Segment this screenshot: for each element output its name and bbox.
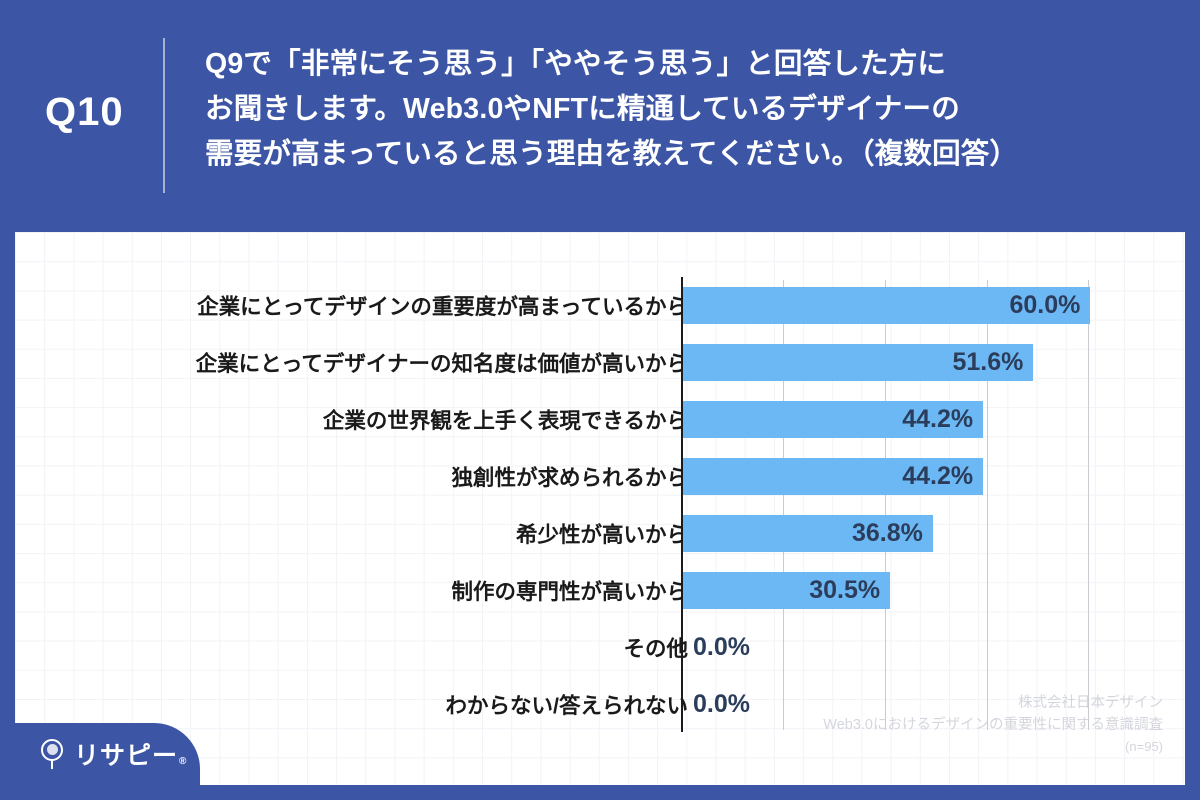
category-label: 制作の専門性が高いから	[451, 562, 688, 619]
brand-logo[interactable]: リサピー®	[15, 723, 200, 785]
question-text: Q9で「非常にそう思う」「ややそう思う」と回答した方に お聞きします。Web3.…	[205, 42, 1180, 177]
question-line-1: Q9で「非常にそう思う」「ややそう思う」と回答した方に	[205, 42, 1180, 87]
chart-row: 独創性が求められるから44.2%	[15, 448, 1185, 505]
chart-row: その他0.0%	[15, 619, 1185, 676]
question-number: Q10	[45, 92, 165, 132]
registered-mark: ®	[179, 756, 187, 767]
chart-row: 制作の専門性が高いから30.5%	[15, 562, 1185, 619]
chart-row: 企業の世界観を上手く表現できるから44.2%	[15, 391, 1185, 448]
question-line-2: お聞きします。Web3.0やNFTに精通しているデザイナーの	[205, 87, 1180, 132]
chart-row: 希少性が高いから36.8%	[15, 505, 1185, 562]
bar-value-label: 0.0%	[693, 619, 833, 676]
credit-company: 株式会社日本デザイン	[823, 692, 1163, 714]
logo-text: リサピー®	[74, 736, 187, 772]
category-label: 企業にとってデザインの重要度が高まっているから	[197, 277, 688, 334]
chart-row: 企業にとってデザイナーの知名度は価値が高いから51.6%	[15, 334, 1185, 391]
magnifier-icon	[41, 739, 67, 769]
question-line-3: 需要が高まっていると思う理由を教えてください。（複数回答）	[205, 132, 1180, 177]
bar-value-label: 36.8%	[681, 505, 923, 562]
bar-value-label: 0.0%	[693, 676, 833, 733]
credits: 株式会社日本デザイン Web3.0におけるデザインの重要性に関する意識調査 (n…	[823, 692, 1163, 757]
category-label: その他	[623, 619, 688, 676]
category-label: 企業にとってデザイナーの知名度は価値が高いから	[196, 334, 688, 391]
slide-header: Q10 Q9で「非常にそう思う」「ややそう思う」と回答した方に お聞きします。W…	[0, 0, 1200, 232]
credit-survey: Web3.0におけるデザインの重要性に関する意識調査	[823, 714, 1163, 736]
bar-value-label: 44.2%	[681, 448, 973, 505]
category-label: わからない/答えられない	[446, 676, 688, 733]
header-divider	[163, 38, 165, 193]
bar-value-label: 60.0%	[681, 277, 1080, 334]
chart-card: 企業にとってデザインの重要度が高まっているから60.0%企業にとってデザイナーの…	[15, 232, 1185, 785]
bar-value-label: 44.2%	[681, 391, 973, 448]
bar-value-label: 30.5%	[681, 562, 880, 619]
category-label: 希少性が高いから	[516, 505, 688, 562]
slide-root: Q10 Q9で「非常にそう思う」「ややそう思う」と回答した方に お聞きします。W…	[0, 0, 1200, 800]
credit-sample-size: (n=95)	[823, 737, 1163, 757]
bar-value-label: 51.6%	[681, 334, 1023, 391]
category-label: 企業の世界観を上手く表現できるから	[323, 391, 688, 448]
category-label: 独創性が求められるから	[451, 448, 688, 505]
chart-row: 企業にとってデザインの重要度が高まっているから60.0%	[15, 277, 1185, 334]
